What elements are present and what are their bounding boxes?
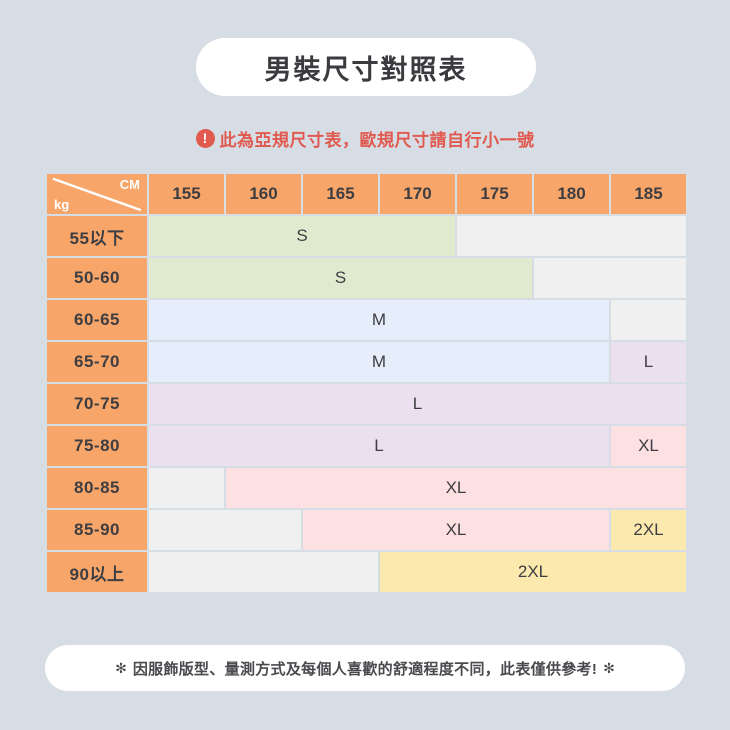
row-header-weight: 80-85: [47, 468, 147, 508]
empty-cell: [149, 510, 301, 550]
title-pill: 男裝尺寸對照表: [196, 38, 536, 96]
size-cell: 2XL: [611, 510, 686, 550]
row-header-weight: 65-70: [47, 342, 147, 382]
size-cell: L: [149, 384, 686, 424]
row-header-weight: 70-75: [47, 384, 147, 424]
table-row: 70-75L: [47, 384, 686, 424]
warning-text: 此為亞規尺寸表，歐規尺寸請自行小一號: [220, 126, 535, 151]
page-title: 男裝尺寸對照表: [265, 48, 468, 87]
table-row: 90以上2XL: [47, 552, 686, 592]
corner-cell-units: CM kg: [47, 174, 147, 214]
header-row: CM kg 155 160 165 170 175 180 185: [47, 174, 686, 214]
table-row: 75-80LXL: [47, 426, 686, 466]
empty-cell: [149, 552, 378, 592]
footer-note: ✻ 因服飾版型、量測方式及每個人喜歡的舒適程度不同，此表僅供參考! ✻: [45, 645, 685, 691]
exclamation-circle-icon: !: [196, 129, 215, 148]
empty-cell: [534, 258, 686, 298]
table-row: 55以下S: [47, 216, 686, 256]
footer-text: 因服飾版型、量測方式及每個人喜歡的舒適程度不同，此表僅供參考!: [133, 658, 597, 679]
height-unit-label: CM: [120, 177, 140, 192]
table-row: 65-70ML: [47, 342, 686, 382]
table-row: 80-85XL: [47, 468, 686, 508]
warning-banner: ! 此為亞規尺寸表，歐規尺寸請自行小一號: [0, 126, 730, 151]
row-header-weight: 55以下: [47, 216, 147, 256]
row-header-weight: 60-65: [47, 300, 147, 340]
star-right-icon: ✻: [603, 660, 615, 677]
row-header-weight: 85-90: [47, 510, 147, 550]
size-cell: L: [149, 426, 609, 466]
empty-cell: [149, 468, 224, 508]
size-cell: M: [149, 342, 609, 382]
column-header-185: 185: [611, 174, 686, 214]
size-cell: S: [149, 258, 532, 298]
size-cell: S: [149, 216, 455, 256]
column-header-160: 160: [226, 174, 301, 214]
column-header-165: 165: [303, 174, 378, 214]
size-cell: 2XL: [380, 552, 686, 592]
size-chart-table: CM kg 155 160 165 170 175 180 185 55以下S5…: [45, 172, 688, 594]
table-row: 85-90XL2XL: [47, 510, 686, 550]
size-cell: XL: [611, 426, 686, 466]
size-cell: XL: [226, 468, 686, 508]
size-cell: M: [149, 300, 609, 340]
star-left-icon: ✻: [115, 660, 127, 677]
column-header-155: 155: [149, 174, 224, 214]
empty-cell: [611, 300, 686, 340]
table-row: 60-65M: [47, 300, 686, 340]
column-header-180: 180: [534, 174, 609, 214]
column-header-170: 170: [380, 174, 455, 214]
table-header: CM kg 155 160 165 170 175 180 185: [47, 174, 686, 214]
size-cell: XL: [303, 510, 609, 550]
table-body: 55以下S50-60S60-65M65-70ML70-75L75-80LXL80…: [47, 216, 686, 592]
table-row: 50-60S: [47, 258, 686, 298]
empty-cell: [457, 216, 686, 256]
size-chart-page: 男裝尺寸對照表 ! 此為亞規尺寸表，歐規尺寸請自行小一號 CM kg 155 1…: [0, 0, 730, 730]
column-header-175: 175: [457, 174, 532, 214]
weight-unit-label: kg: [54, 197, 69, 212]
row-header-weight: 50-60: [47, 258, 147, 298]
row-header-weight: 75-80: [47, 426, 147, 466]
row-header-weight: 90以上: [47, 552, 147, 592]
size-cell: L: [611, 342, 686, 382]
